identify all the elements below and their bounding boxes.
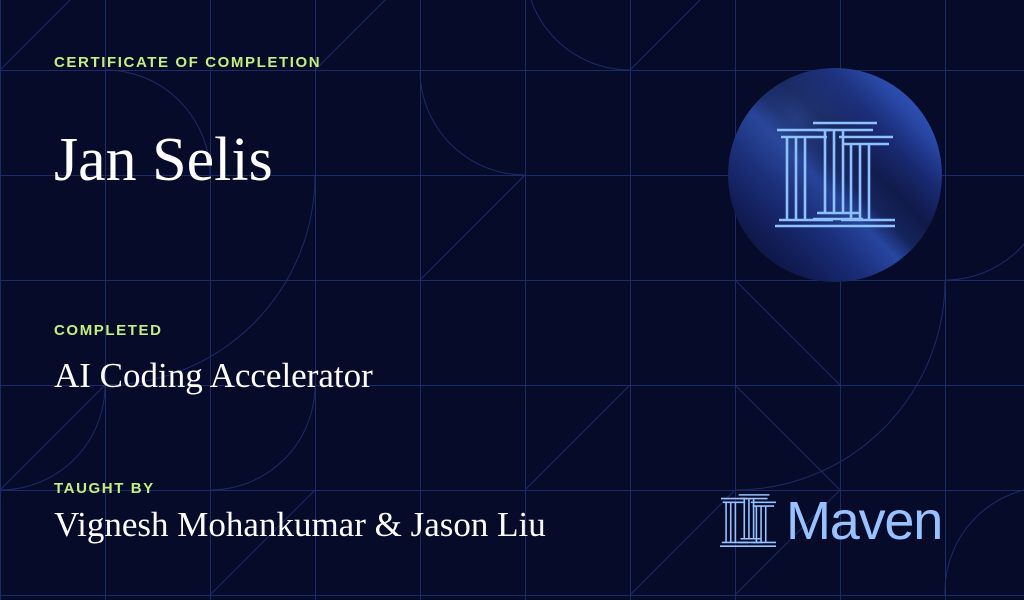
maven-pillars-icon [720, 492, 776, 550]
certificate-kicker: CERTIFICATE OF COMPLETION [54, 54, 321, 71]
certificate-card: CERTIFICATE OF COMPLETION Jan Selis COMP… [0, 0, 1024, 600]
taught-by-label: TAUGHT BY [54, 480, 155, 497]
instructor-names: Vignesh Mohankumar & Jason Liu [54, 505, 546, 545]
course-title: AI Coding Accelerator [54, 356, 373, 396]
completed-label: COMPLETED [54, 322, 163, 339]
maven-logo: Maven [720, 492, 942, 550]
recipient-name: Jan Selis [54, 125, 273, 196]
maven-wordmark-text: Maven [786, 494, 942, 548]
